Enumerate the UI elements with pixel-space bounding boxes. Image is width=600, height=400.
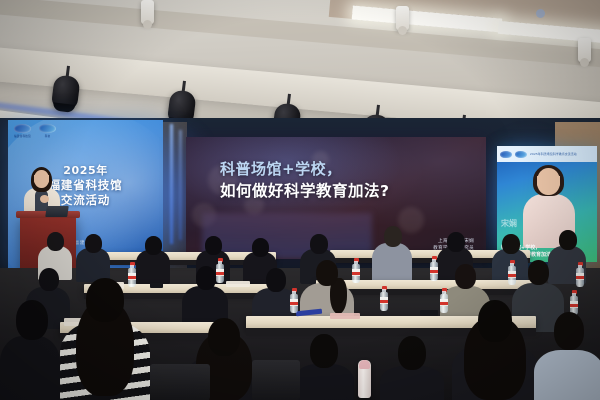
audience-head (252, 238, 269, 257)
audience-member-foreground (0, 300, 60, 400)
audience-head (16, 300, 48, 340)
conference-hall-photo: 福建省科技馆 科协 2025年 福建省科技馆 交流活动 福建福州 (0, 0, 600, 400)
audience-member-foreground (452, 300, 538, 400)
wall-light-strip-2 (179, 130, 182, 240)
audience-member-foreground (534, 312, 600, 400)
audience-member-foreground (60, 278, 150, 400)
presenter-head (34, 170, 49, 188)
right-screen-header-bar: 2025年科普场馆科学教育交流活动 (497, 146, 597, 162)
audience-member (182, 266, 228, 326)
audience-body (0, 336, 60, 400)
live-feed-speaker-head (537, 168, 560, 195)
audience-head (39, 268, 59, 291)
chair-back (252, 360, 300, 400)
badge-on-table (330, 313, 360, 319)
audience-body (372, 243, 412, 284)
thermos-lid (359, 360, 370, 369)
right-screen-bar-title: 2025年科普场馆科学教育交流活动 (530, 152, 577, 156)
audience-head (266, 268, 286, 292)
audience-head (447, 232, 465, 252)
audience-head (384, 226, 402, 247)
left-screen-logos: 福建省科技馆 科协 (14, 124, 56, 138)
audience-head (316, 260, 338, 286)
audience-head (528, 260, 549, 285)
wall-light-strip-1 (170, 124, 173, 244)
audience-member (372, 226, 412, 282)
audience-head (455, 264, 476, 289)
audience-body (534, 350, 600, 400)
audience-head (559, 230, 577, 250)
fujian-science-museum-logo (500, 151, 512, 158)
association-logo: 科协 (39, 124, 56, 138)
audience-head (310, 234, 328, 254)
audience-head (502, 234, 520, 254)
chair-back (150, 364, 210, 400)
ceiling (0, 0, 600, 132)
audience-member-foreground (380, 336, 444, 400)
ceiling-speaker-2 (396, 6, 409, 30)
main-title-line-1: 科普场馆+学校， (220, 159, 470, 180)
audience-body (294, 364, 354, 400)
audience-head (205, 236, 222, 255)
phone-on-table (420, 310, 438, 316)
phone-on-table (150, 283, 163, 288)
logo-caption: 科协 (45, 134, 51, 138)
thermos-bottle (358, 360, 371, 398)
audience-member (76, 234, 110, 280)
audience-head (310, 334, 338, 368)
audience-head (85, 234, 102, 253)
audience-head (398, 336, 426, 370)
logo-caption: 福建省科技馆 (14, 134, 31, 138)
main-title-line-2: 如何做好科学教育加法? (220, 180, 470, 202)
audience-member (136, 236, 170, 282)
podium-laptop (45, 206, 69, 217)
audience-head (145, 236, 162, 255)
audience-head (47, 232, 64, 251)
logo-mark-icon (14, 124, 31, 133)
audience-head (196, 266, 216, 290)
notepad (226, 281, 250, 287)
fujian-science-museum-logo: 福建省科技馆 (14, 124, 31, 138)
presenter-hand (40, 195, 49, 203)
audience-head (478, 300, 512, 342)
audience-body (76, 248, 110, 282)
audience-head (86, 278, 124, 322)
ceiling-recessed-light (536, 9, 545, 18)
association-logo (515, 151, 527, 158)
ceiling-speaker-1 (141, 0, 154, 24)
audience-body (380, 366, 444, 400)
right-screen-watermark-name: 宋娴 (501, 218, 517, 229)
audience-head (554, 312, 584, 350)
audience-member-foreground (294, 334, 354, 400)
ceiling-speaker-3 (578, 38, 591, 62)
audience-head (208, 318, 240, 356)
main-screen-title: 科普场馆+学校， 如何做好科学教育加法? (220, 159, 470, 202)
logo-mark-icon (39, 124, 56, 133)
